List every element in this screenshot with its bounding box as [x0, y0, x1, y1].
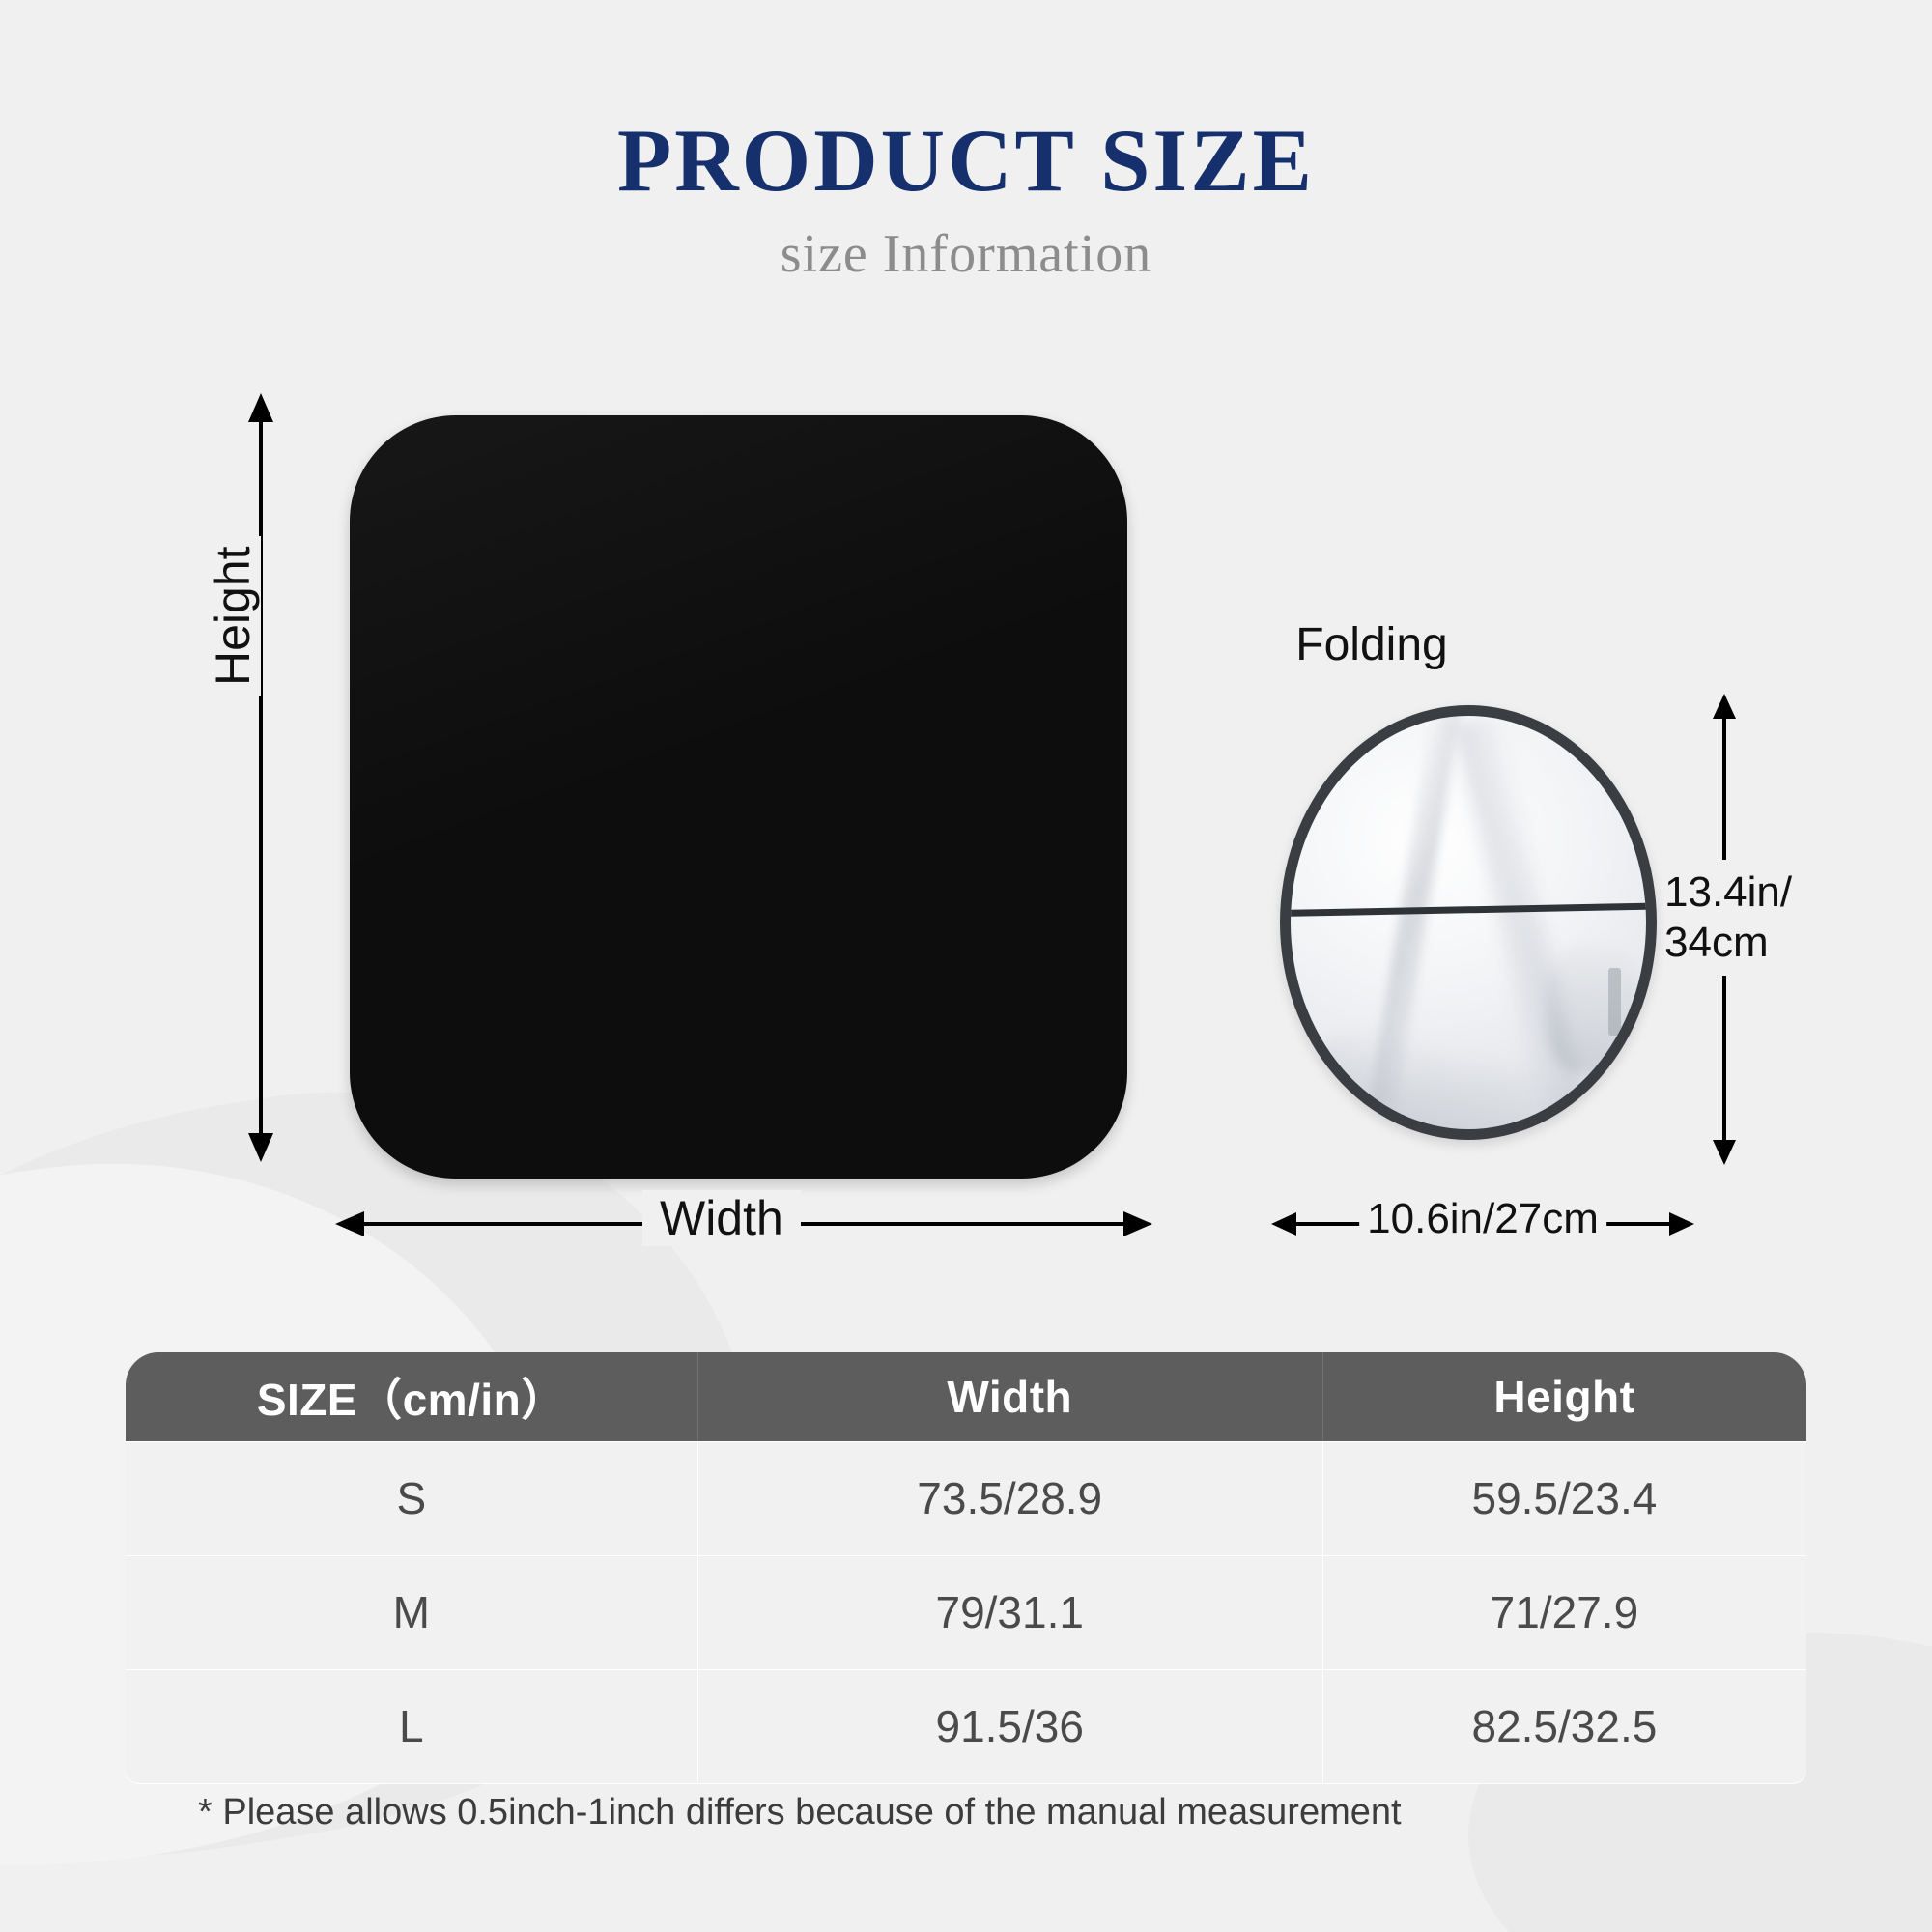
- cell-height: 59.5/23.4: [1322, 1441, 1806, 1555]
- product-size-infographic: PRODUCT SIZE size Information Height Wid…: [0, 0, 1932, 1932]
- cell-width: 91.5/36: [697, 1669, 1322, 1783]
- arrow-left-icon: [335, 1211, 364, 1236]
- column-header-width: Width: [697, 1352, 1322, 1441]
- cell-size: L: [126, 1669, 697, 1783]
- column-header-height: Height: [1322, 1352, 1806, 1441]
- arrow-down-icon: [1713, 1140, 1736, 1165]
- cell-size: S: [126, 1441, 697, 1555]
- folded-height-label: 13.4in/ 34cm: [1664, 860, 1896, 976]
- folded-height-line-1: 13.4in/: [1664, 867, 1896, 918]
- cell-height: 82.5/32.5: [1322, 1669, 1806, 1783]
- arrow-right-icon: [1123, 1211, 1152, 1236]
- column-header-size: SIZE（cm/in）: [126, 1352, 697, 1441]
- table-row: M 79/31.1 71/27.9: [126, 1555, 1806, 1669]
- cell-size: M: [126, 1555, 697, 1669]
- table-row: S 73.5/28.9 59.5/23.4: [126, 1441, 1806, 1555]
- width-dimension-label: Width: [642, 1190, 801, 1246]
- header: PRODUCT SIZE size Information: [0, 114, 1932, 285]
- arrow-up-icon: [248, 393, 273, 422]
- page-subtitle: size Information: [0, 223, 1932, 285]
- height-dimension-label: Height: [205, 536, 261, 696]
- arrow-left-icon: [1271, 1212, 1296, 1236]
- fabric-crease: [1547, 943, 1639, 1075]
- page-title: PRODUCT SIZE: [0, 114, 1932, 208]
- arrow-down-icon: [248, 1133, 273, 1162]
- folded-width-label: 10.6in/27cm: [1359, 1195, 1606, 1243]
- product-image-folded: [1280, 705, 1657, 1140]
- size-table: SIZE（cm/in） Width Height S 73.5/28.9 59.…: [126, 1352, 1806, 1783]
- folded-height-line-2: 34cm: [1664, 918, 1896, 968]
- arrow-up-icon: [1713, 694, 1736, 719]
- arrow-right-icon: [1669, 1212, 1694, 1236]
- product-image-unfolded: [350, 415, 1127, 1179]
- table-header-row: SIZE（cm/in） Width Height: [126, 1352, 1806, 1441]
- folding-label: Folding: [1295, 618, 1447, 671]
- height-dimension-line: [259, 420, 263, 1135]
- table-row: L 91.5/36 82.5/32.5: [126, 1669, 1806, 1783]
- cell-width: 73.5/28.9: [697, 1441, 1322, 1555]
- measurement-disclaimer: * Please allows 0.5inch-1inch differs be…: [198, 1792, 1402, 1833]
- cell-width: 79/31.1: [697, 1555, 1322, 1669]
- folded-tab: [1608, 968, 1621, 1036]
- cell-height: 71/27.9: [1322, 1555, 1806, 1669]
- folded-band: [1283, 902, 1657, 917]
